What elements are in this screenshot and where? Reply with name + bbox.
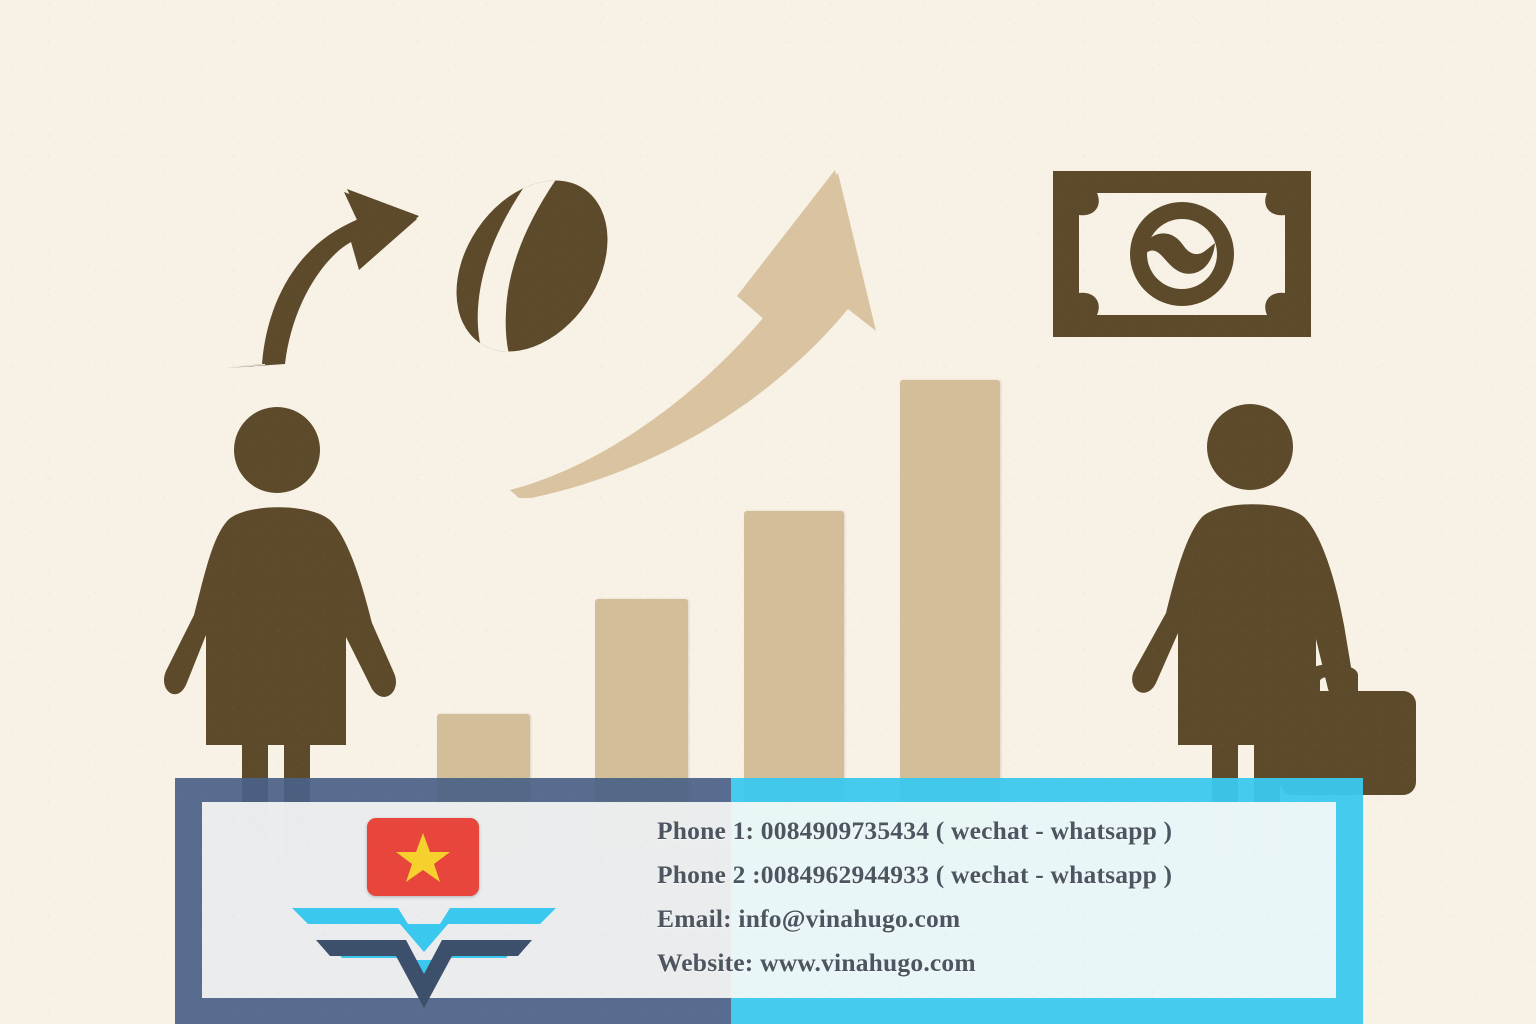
image-canvas: Phone 1: 0084909735434 ( wechat - whatsa… (0, 0, 1536, 1024)
growth-arrow-icon (505, 168, 935, 498)
contact-line-website: Website: www.vinahugo.com (657, 948, 976, 978)
contact-banner: Phone 1: 0084909735434 ( wechat - whatsa… (175, 778, 1363, 1024)
banner-content: Phone 1: 0084909735434 ( wechat - whatsa… (202, 802, 1336, 998)
contact-line-email: Email: info@vinahugo.com (657, 904, 960, 934)
banknote-icon (1053, 171, 1311, 337)
curved-arrow-icon (205, 172, 435, 377)
contact-line-phone-1: Phone 1: 0084909735434 ( wechat - whatsa… (657, 816, 1172, 846)
contact-line-phone-2: Phone 2 :0084962944933 ( wechat - whatsa… (657, 860, 1172, 890)
vietnam-flag-icon (367, 818, 479, 896)
vinahugo-logo (290, 900, 558, 1012)
flag-star-icon (394, 829, 452, 885)
